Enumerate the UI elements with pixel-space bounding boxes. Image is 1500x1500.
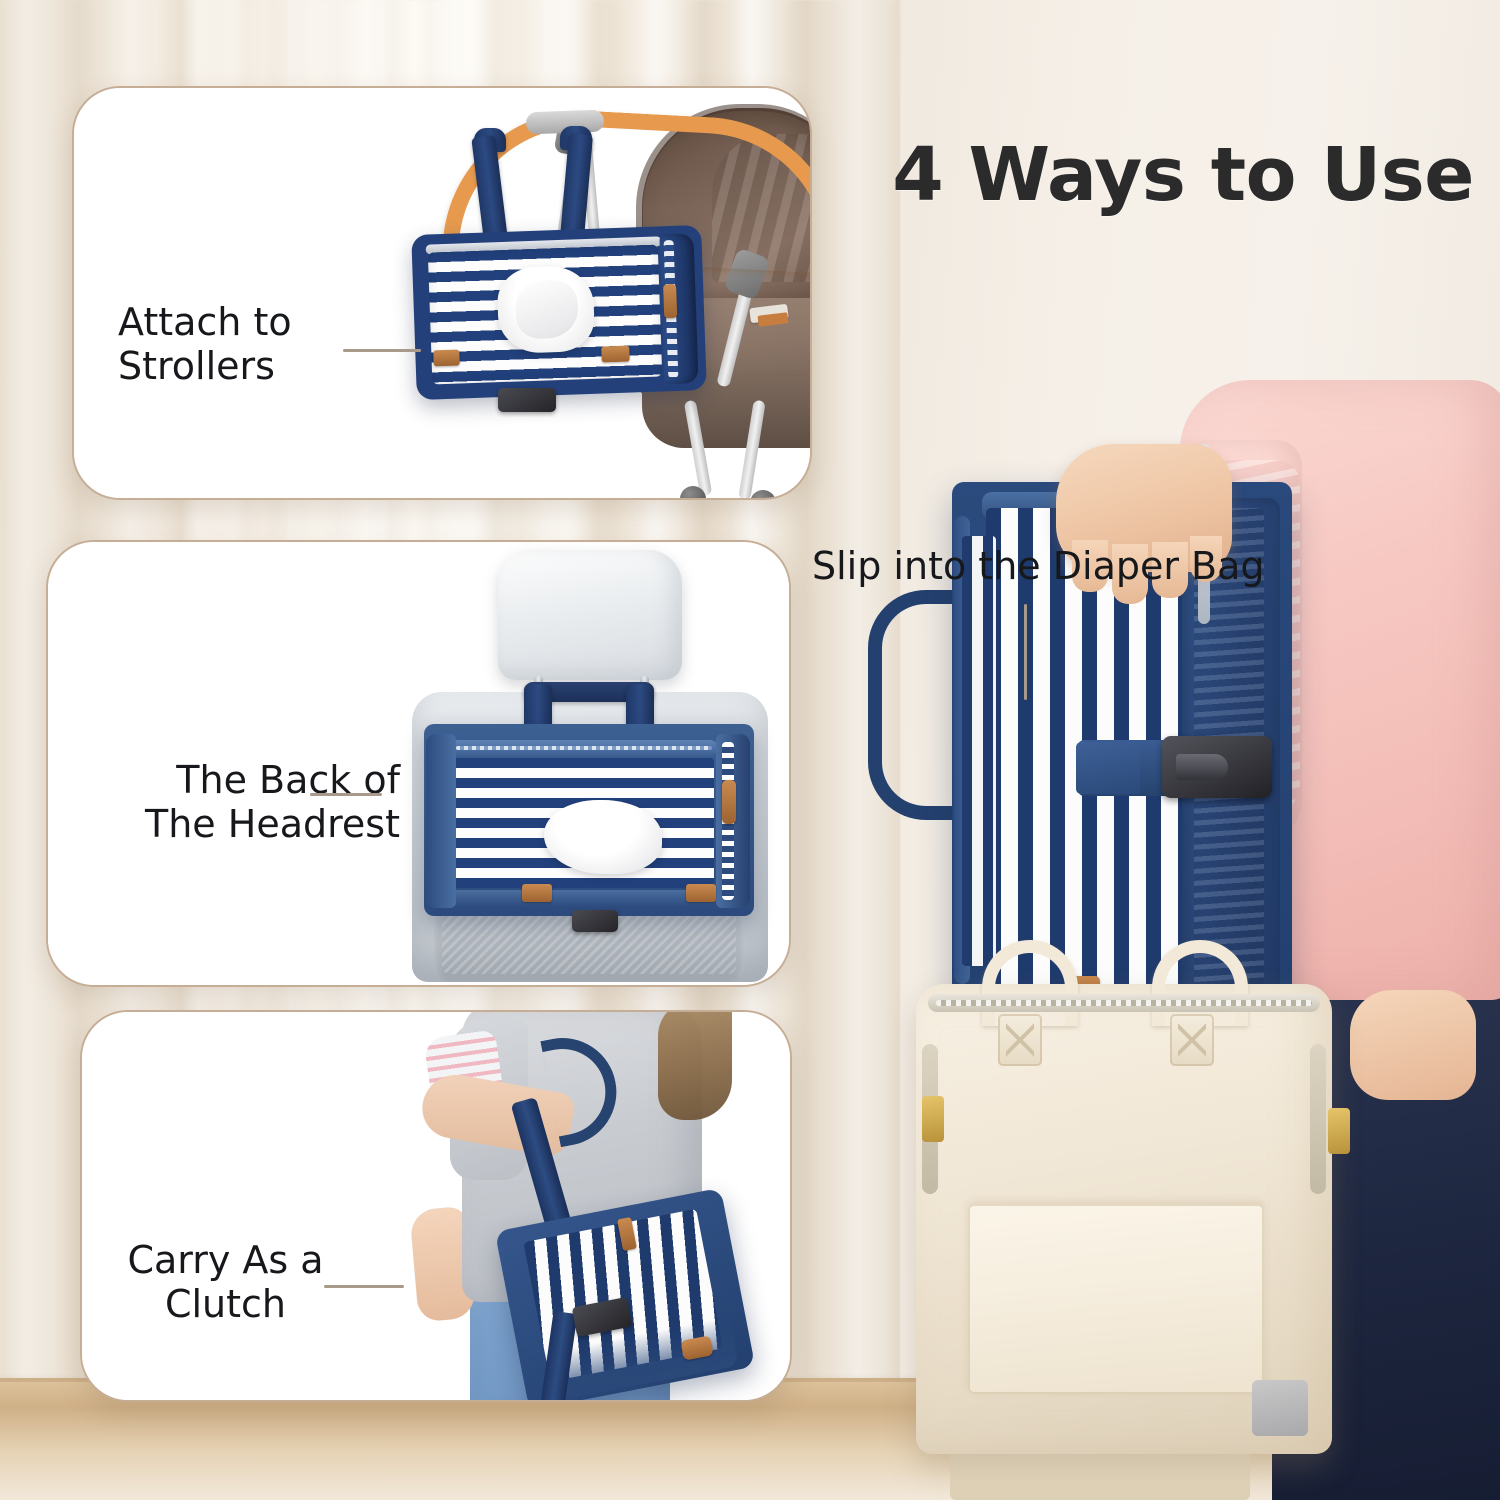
card-attach-to-strollers-image bbox=[74, 88, 810, 498]
leather-tab bbox=[522, 884, 552, 902]
buckle-clasp bbox=[498, 388, 556, 412]
backpack-handle-anchor bbox=[998, 1014, 1042, 1066]
wipes-tissue bbox=[496, 265, 595, 354]
card-attach-to-strollers bbox=[72, 86, 812, 500]
backpack-grey-tab bbox=[1252, 1380, 1308, 1436]
woman-second-hand bbox=[1350, 990, 1476, 1100]
leather-tab bbox=[686, 884, 716, 902]
infographic-canvas: 4 Ways to Use bbox=[0, 0, 1500, 1500]
buckle-clasp bbox=[1162, 736, 1272, 798]
leather-tab bbox=[433, 350, 460, 367]
label-carry-as-a-clutch: Carry As a Clutch bbox=[108, 1238, 343, 1327]
connector-line-diaper-bag bbox=[1024, 604, 1027, 700]
connector-line-clutch bbox=[324, 1285, 404, 1288]
leather-zipper-pull bbox=[663, 284, 677, 318]
backpack-zipper bbox=[928, 994, 1320, 1012]
connector-line-headrest bbox=[310, 793, 382, 796]
label-back-of-the-headrest: The Back of The Headrest bbox=[80, 758, 400, 847]
changing-pad-bottom-band bbox=[450, 890, 718, 906]
card-carry-as-a-clutch-image bbox=[82, 1012, 790, 1400]
clutch-carry-scene bbox=[362, 1012, 790, 1400]
wipes-tissue bbox=[544, 800, 662, 874]
changing-pad-stripe-panel-secondary bbox=[962, 536, 996, 966]
changing-pad bbox=[424, 724, 754, 916]
label-slip-into-the-diaper-bag: Slip into the Diaper Bag bbox=[812, 544, 1265, 588]
backpack-gold-zipper-pull bbox=[922, 1096, 944, 1142]
car-headrest-scene bbox=[348, 542, 789, 985]
changing-pad-folded-edge bbox=[426, 734, 456, 908]
changing-pad bbox=[411, 225, 707, 400]
changing-pad-zipper bbox=[450, 740, 718, 756]
connector-line-strollers bbox=[343, 349, 421, 352]
backpack-front-pocket bbox=[968, 1204, 1264, 1394]
leather-zipper-pull bbox=[722, 780, 736, 824]
backpack-side-zipper bbox=[1310, 1044, 1326, 1194]
backpack-gold-zipper-pull bbox=[1328, 1108, 1350, 1154]
changing-pad-velcro-patch bbox=[1076, 742, 1140, 794]
car-headrest bbox=[498, 550, 682, 680]
page-title: 4 Ways to Use bbox=[892, 132, 1474, 218]
stroller-wheel bbox=[750, 490, 776, 498]
stroller-scene bbox=[374, 100, 810, 498]
woman-hair bbox=[658, 1012, 732, 1120]
card-carry-as-a-clutch bbox=[80, 1010, 792, 1402]
leather-tab bbox=[601, 346, 630, 363]
backpack-handle-anchor bbox=[1170, 1014, 1214, 1066]
buckle-clasp bbox=[572, 910, 618, 932]
label-attach-to-strollers: Attach to Strollers bbox=[118, 300, 292, 389]
